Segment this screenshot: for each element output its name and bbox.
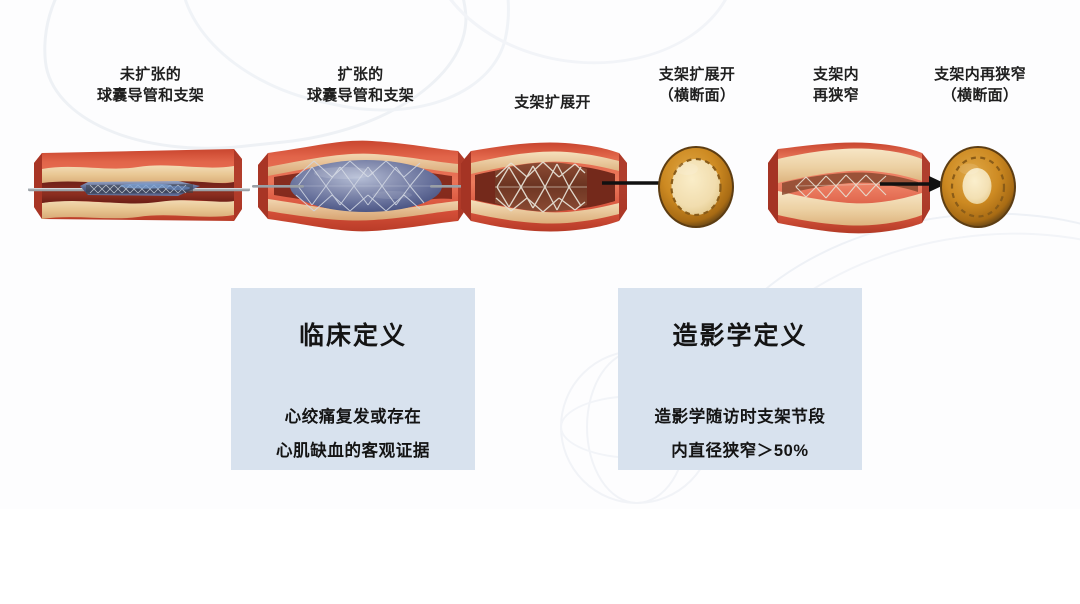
definition-title: 造影学定义 [672,316,807,352]
definition-box-angiographic: 造影学定义 造影学随访时支架节段 内直径狭窄＞50% [618,288,862,470]
caption-line: 球囊导管和支架 [58,85,243,106]
caption-stent-expanded: 支架扩展开 [490,92,615,113]
caption-line: 支架扩展开 [490,92,615,113]
caption-line: 再狭窄 [790,85,882,106]
caption-deployed-balloon-stent: 扩张的 球囊导管和支架 [268,64,453,106]
caption-line: 支架内再狭窄 [905,64,1055,85]
definition-body-line: 内直径狭窄＞50% [655,434,826,468]
definition-body-line: 心肌缺血的客观证据 [276,434,430,468]
caption-line: 支架扩展开 [632,64,762,85]
vessel-deployed-balloon [252,133,477,238]
caption-line: （横断面） [632,85,762,106]
cross-section-stent-expanded [656,145,736,229]
definition-box-clinical: 临床定义 心绞痛复发或存在 心肌缺血的客观证据 [231,288,475,470]
caption-in-stent-restenosis: 支架内 再狭窄 [790,64,882,106]
definition-body-line: 造影学随访时支架节段 [655,400,826,434]
caption-undeployed-balloon-stent: 未扩张的 球囊导管和支架 [58,64,243,106]
caption-in-stent-restenosis-cross-section: 支架内再狭窄 （横断面） [905,64,1055,106]
definition-body: 心绞痛复发或存在 心肌缺血的客观证据 [276,400,430,468]
caption-line: 球囊导管和支架 [268,85,453,106]
definition-body: 造影学随访时支架节段 内直径狭窄＞50% [655,400,826,468]
vessel-undeployed [28,133,250,238]
caption-line: 未扩张的 [58,64,243,85]
slide-root: { "slide": { "background_color": "#fdfdf… [0,0,1080,509]
caption-stent-expanded-cross-section: 支架扩展开 （横断面） [632,64,762,106]
caption-line: 扩张的 [268,64,453,85]
definition-body-line: 心绞痛复发或存在 [276,400,430,434]
definition-title: 临床定义 [299,316,407,352]
caption-line: 支架内 [790,64,882,85]
caption-line: （横断面） [905,85,1055,106]
cross-section-restenosis [938,145,1018,229]
